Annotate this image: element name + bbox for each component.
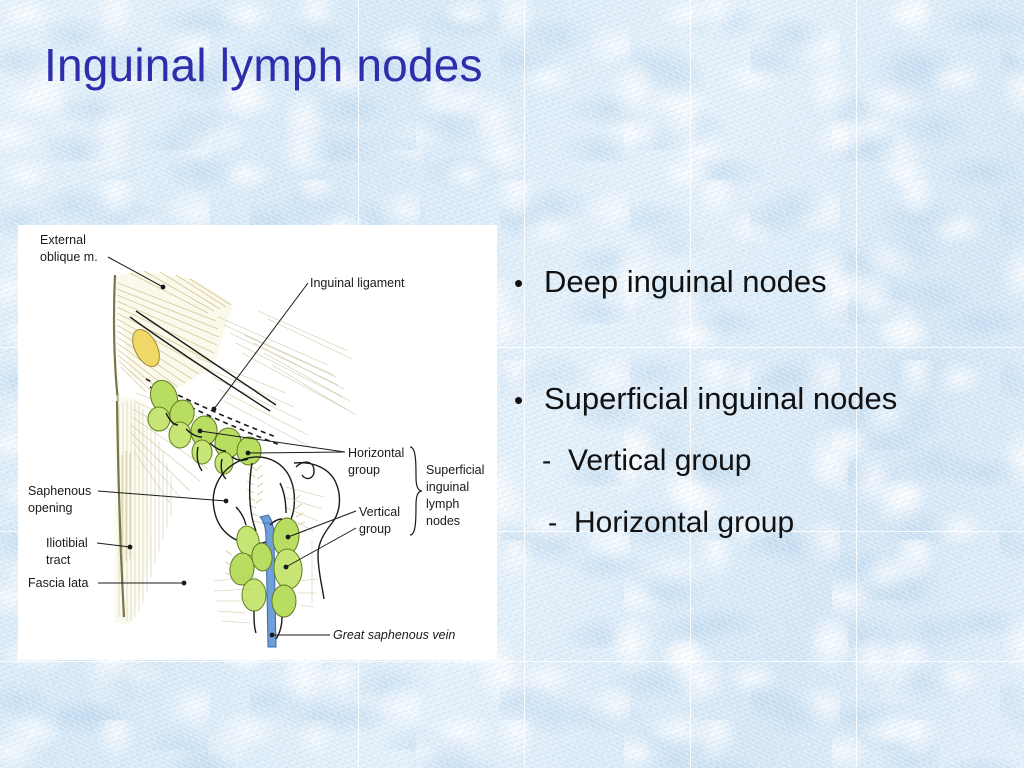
svg-text:group: group — [348, 463, 380, 477]
bullet-list: • Deep inguinal nodes • Superficial ingu… — [514, 264, 1014, 540]
bullet-item-vertical-group: - Vertical group — [514, 443, 1014, 478]
svg-text:Superficial: Superficial — [426, 463, 484, 477]
svg-text:External: External — [40, 233, 86, 247]
svg-text:lymph: lymph — [426, 497, 459, 511]
bullet-label: Horizontal group — [574, 505, 794, 540]
bullet-label: Vertical group — [568, 443, 751, 478]
anatomy-figure-panel: External oblique m. Inguinal ligament Ho… — [18, 225, 497, 660]
leader-dot-iliotibial-tract — [128, 545, 133, 550]
svg-text:opening: opening — [28, 501, 73, 515]
svg-text:Vertical: Vertical — [359, 505, 400, 519]
svg-text:group: group — [359, 522, 391, 536]
svg-text:Saphenous: Saphenous — [28, 484, 91, 498]
bullet-item-horizontal-group: - Horizontal group — [514, 505, 1014, 540]
slide-title: Inguinal lymph nodes — [44, 40, 483, 91]
bullet-dot-icon: • — [514, 270, 544, 296]
svg-text:Horizontal: Horizontal — [348, 446, 404, 460]
leader-dot-horizontal-group-2 — [198, 429, 203, 434]
leader-dot-external-oblique — [161, 285, 166, 290]
leader-dot-great-saphenous-vein — [270, 633, 275, 638]
leader-dot-horizontal-group-1 — [246, 451, 251, 456]
svg-text:inguinal: inguinal — [426, 480, 469, 494]
bullet-spacer-3 — [514, 479, 1014, 505]
leader-dot-fascia-lata — [182, 581, 187, 586]
svg-text:nodes: nodes — [426, 514, 460, 528]
bullet-spacer-1 — [514, 301, 1014, 381]
slide-canvas: Inguinal lymph nodes • Deep inguinal nod… — [0, 0, 1024, 768]
leader-dot-vertical-group-1 — [286, 535, 291, 540]
lower-thigh-fibers — [214, 577, 318, 623]
bullet-dot-icon: • — [514, 387, 544, 413]
leader-dot-inguinal-ligament — [212, 407, 217, 412]
svg-text:tract: tract — [46, 553, 71, 567]
svg-text:Iliotibial: Iliotibial — [46, 536, 88, 550]
svg-text:oblique m.: oblique m. — [40, 250, 98, 264]
bullet-dash-icon: - — [548, 509, 574, 537]
bullet-label: Superficial inguinal nodes — [544, 381, 897, 418]
bullet-item-superficial-inguinal-nodes: • Superficial inguinal nodes — [514, 381, 1014, 418]
anatomy-diagram: External oblique m. Inguinal ligament Ho… — [18, 225, 497, 660]
bullet-spacer-2 — [514, 417, 1014, 443]
svg-text:Great saphenous vein: Great saphenous vein — [333, 628, 455, 642]
bullet-label: Deep inguinal nodes — [544, 264, 827, 301]
leader-dot-saphenous-opening — [224, 499, 229, 504]
label-fascia-lata: Fascia lata — [28, 576, 186, 590]
svg-text:Inguinal ligament: Inguinal ligament — [310, 276, 405, 290]
aponeurosis-fibers-right — [218, 311, 352, 409]
label-great-saphenous-vein: Great saphenous vein — [270, 628, 456, 642]
label-superficial-inguinal-lymph-nodes: Superficial inguinal lymph nodes — [410, 447, 484, 535]
bullet-item-deep-inguinal-nodes: • Deep inguinal nodes — [514, 264, 1014, 301]
svg-text:Fascia lata: Fascia lata — [28, 576, 88, 590]
label-vertical-group: Vertical group — [284, 505, 400, 569]
bullet-dash-icon: - — [542, 447, 568, 475]
leader-dot-vertical-group-2 — [284, 565, 289, 570]
